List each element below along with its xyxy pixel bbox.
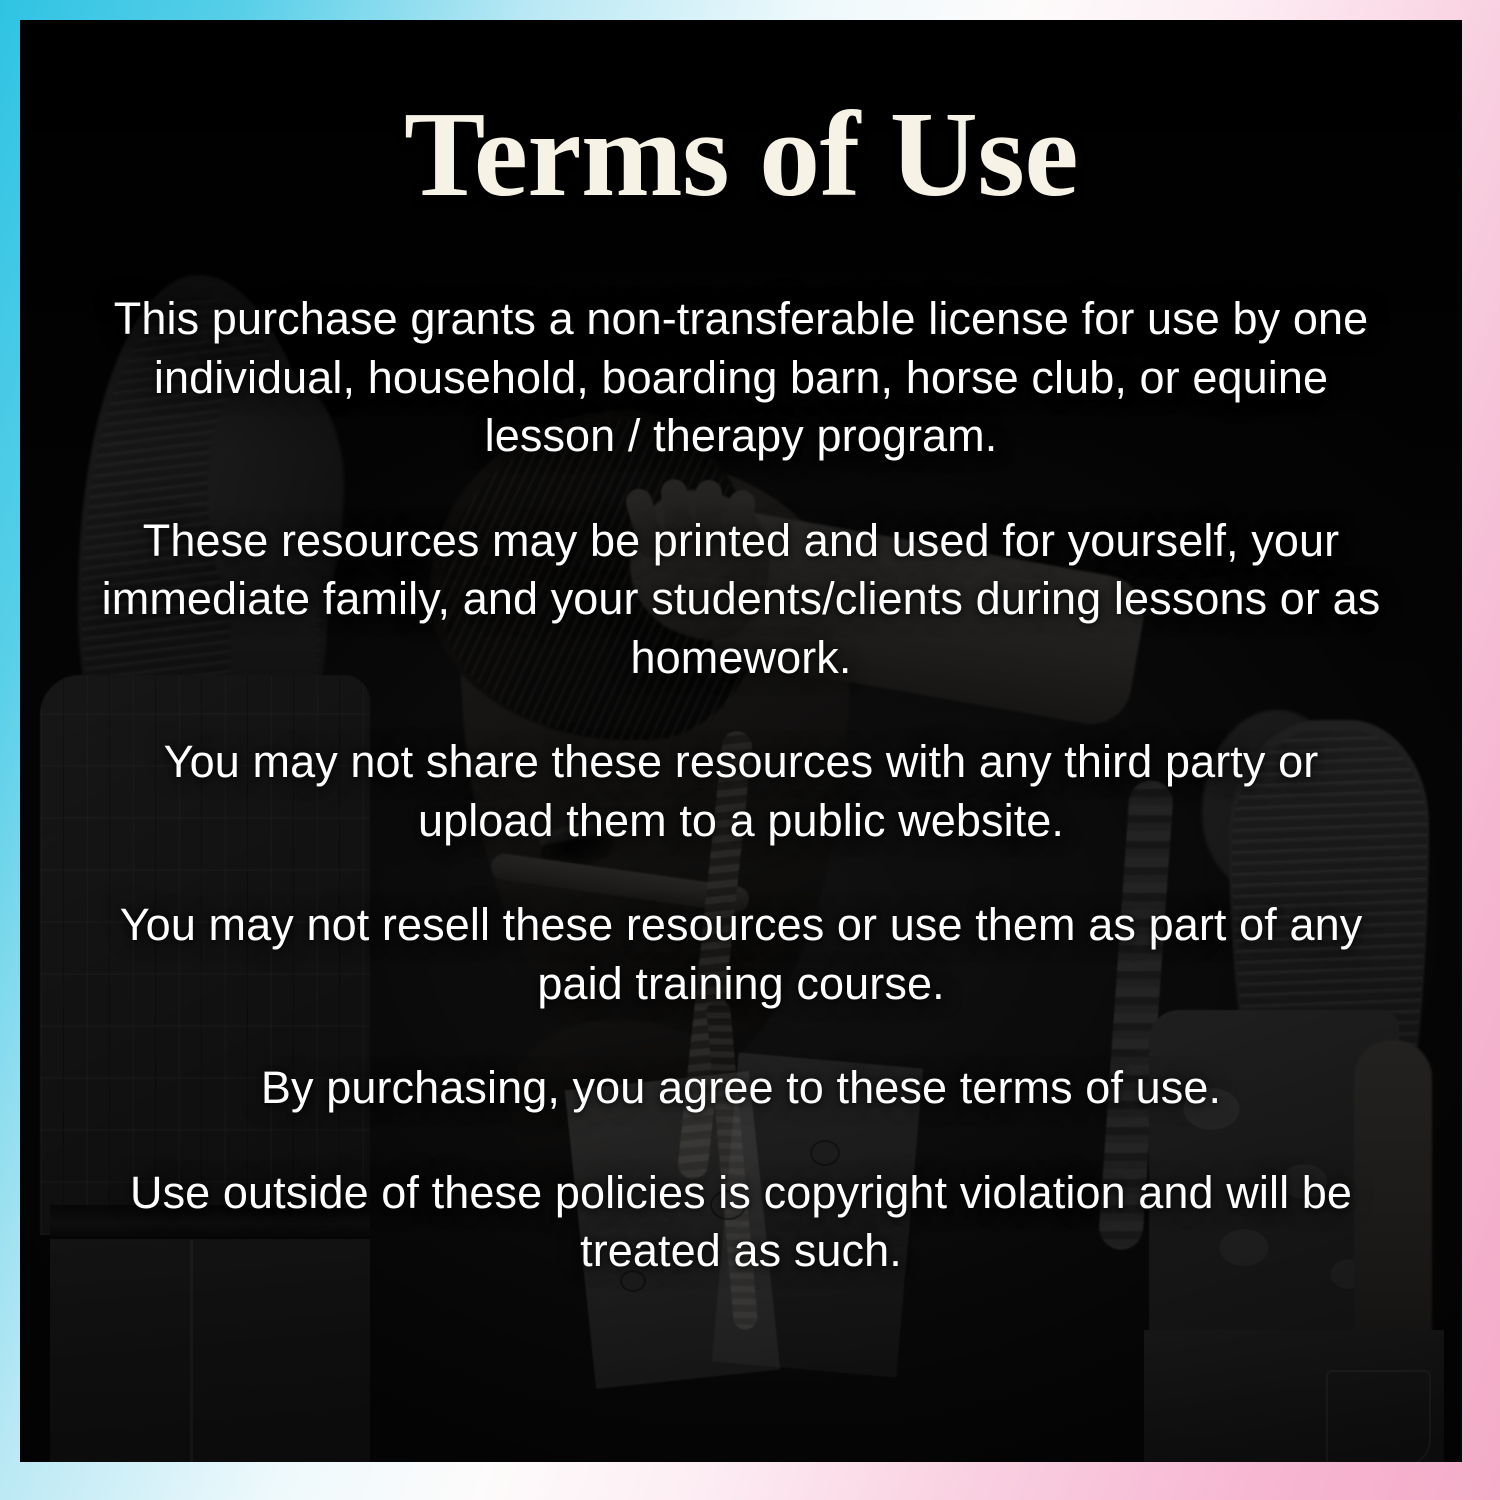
terms-paragraph: This purchase grants a non-transferable … (96, 290, 1386, 466)
terms-paragraph: You may not resell these resources or us… (96, 896, 1386, 1013)
page-title: Terms of Use (80, 94, 1402, 216)
terms-list: This purchase grants a non-transferable … (80, 290, 1402, 1281)
dark-photo-panel: Terms of Use This purchase grants a non-… (20, 20, 1462, 1462)
terms-of-use-card: Terms of Use This purchase grants a non-… (0, 0, 1500, 1500)
terms-paragraph: You may not share these resources with a… (96, 733, 1386, 850)
terms-paragraph: These resources may be printed and used … (96, 512, 1386, 688)
terms-content: Terms of Use This purchase grants a non-… (20, 20, 1462, 1462)
terms-paragraph: Use outside of these policies is copyrig… (96, 1164, 1386, 1281)
terms-paragraph: By purchasing, you agree to these terms … (96, 1059, 1386, 1118)
